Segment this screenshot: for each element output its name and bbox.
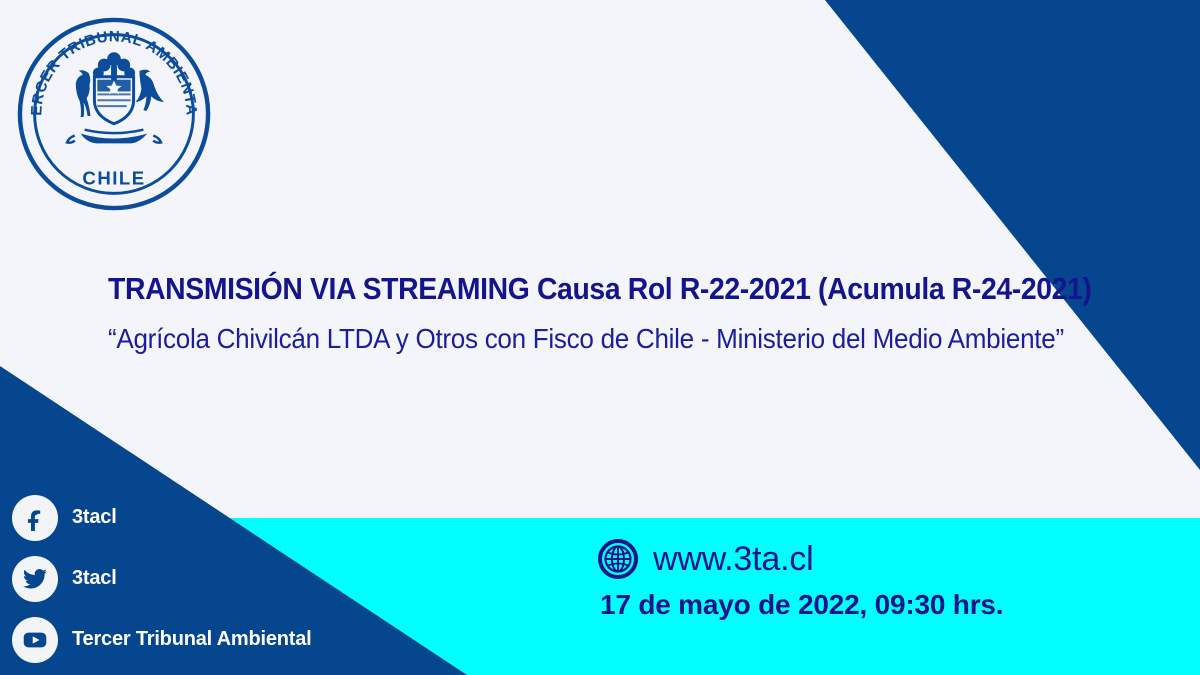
website-info-block: www.3ta.cl 17 de mayo de 2022, 09:30 hrs… — [597, 535, 1117, 621]
blue-triangle-top-right — [825, 0, 1200, 470]
streaming-announcement-banner: TERCER TRIBUNAL AMBIENTAL CHILE — [0, 0, 1200, 675]
social-link-youtube[interactable]: Tercer Tribunal Ambiental — [12, 609, 342, 670]
youtube-icon[interactable] — [12, 617, 58, 663]
page-title: TRANSMISIÓN VIA STREAMING Causa Rol R-22… — [108, 272, 1038, 307]
social-link-twitter[interactable]: 3tacl — [12, 548, 342, 609]
twitter-icon[interactable] — [12, 556, 58, 602]
social-label-twitter: 3tacl — [72, 567, 117, 590]
headline-block: TRANSMISIÓN VIA STREAMING Causa Rol R-22… — [108, 272, 1108, 355]
social-links-list: 3tacl 3tacl Tercer Tribunal Ambiental — [12, 487, 342, 670]
event-datetime: 17 de mayo de 2022, 09:30 hrs. — [600, 589, 1117, 621]
social-link-facebook[interactable]: 3tacl — [12, 487, 342, 548]
coat-of-arms-emblem — [67, 52, 164, 152]
facebook-icon[interactable] — [12, 495, 58, 541]
social-label-facebook: 3tacl — [72, 506, 117, 529]
logo-bottom-text: CHILE — [82, 168, 145, 189]
institution-logo: TERCER TRIBUNAL AMBIENTAL CHILE — [16, 16, 212, 212]
page-subtitle: “Agrícola Chivilcán LTDA y Otros con Fis… — [108, 323, 1038, 355]
globe-icon — [597, 538, 639, 580]
social-label-youtube: Tercer Tribunal Ambiental — [72, 628, 312, 651]
website-url-row[interactable]: www.3ta.cl — [597, 535, 1117, 583]
website-url[interactable]: www.3ta.cl — [653, 540, 814, 579]
